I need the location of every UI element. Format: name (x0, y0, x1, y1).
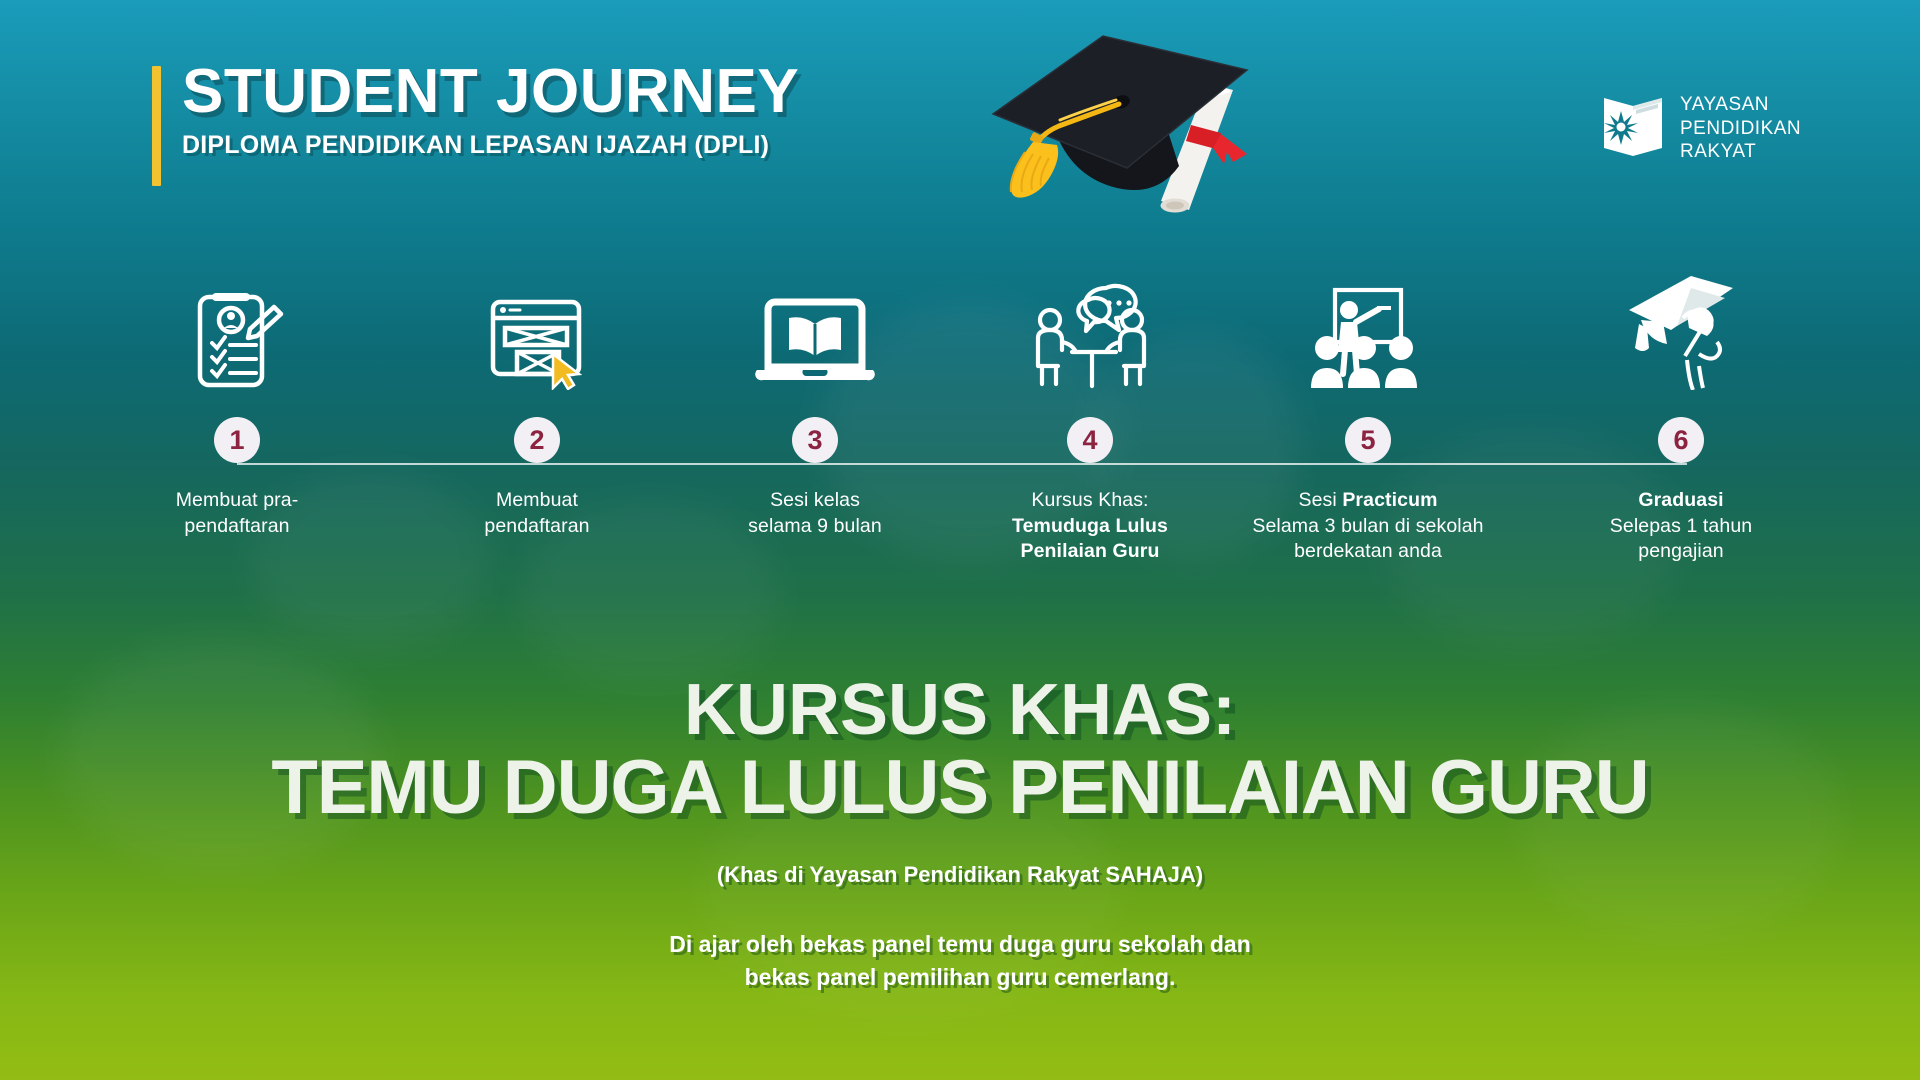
timeline-step-6[interactable]: 6 GraduasiSelepas 1 tahunpengajian (1558, 270, 1804, 565)
logo-line-3: RAKYAT (1680, 140, 1801, 164)
step-number-5: 5 (1345, 417, 1391, 463)
timeline-step-5[interactable]: 5 Sesi PracticumSelama 3 bulan di sekola… (1245, 270, 1491, 565)
step-number-2: 2 (514, 417, 560, 463)
student-journey-timeline: 1 Membuat pra-pendaftaran (0, 270, 1920, 610)
laptop-open-book-icon (692, 270, 938, 390)
step-label-6: GraduasiSelepas 1 tahunpengajian (1558, 488, 1804, 565)
footnote: Di ajar oleh bekas panel temu duga guru … (0, 928, 1920, 995)
step-number-4: 4 (1067, 417, 1113, 463)
step-number-1: 1 (214, 417, 260, 463)
page-title: STUDENT JOURNEY (182, 60, 799, 123)
step-number-3: 3 (792, 417, 838, 463)
logo-line-2: PENDIDIKAN (1680, 117, 1801, 141)
timeline-step-3[interactable]: 3 Sesi kelasselama 9 bulan (692, 270, 938, 539)
teacher-whiteboard-students-icon (1245, 270, 1491, 390)
step-label-5: Sesi PracticumSelama 3 bulan di sekolahb… (1245, 488, 1491, 565)
timeline-step-1[interactable]: 1 Membuat pra-pendaftaran (114, 270, 360, 539)
logo-line-1: YAYASAN (1680, 93, 1801, 117)
graduation-cap-diploma-icon (1558, 270, 1804, 390)
step-number-6: 6 (1658, 417, 1704, 463)
logo-text: YAYASAN PENDIDIKAN RAKYAT (1680, 93, 1801, 164)
online-form-cursor-icon (414, 270, 660, 390)
step-label-4: Kursus Khas:Temuduga LulusPenilaian Guru (967, 488, 1213, 565)
headline-line-2: TEMU DUGA LULUS PENILAIAN GURU (0, 748, 1920, 829)
timeline-step-2[interactable]: 2 Membuatpendaftaran (414, 270, 660, 539)
header: STUDENT JOURNEY DIPLOMA PENDIDIKAN LEPAS… (0, 0, 1920, 215)
exclusivity-note: (Khas di Yayasan Pendidikan Rakyat SAHAJ… (0, 862, 1920, 888)
title-block: STUDENT JOURNEY DIPLOMA PENDIDIKAN LEPAS… (152, 60, 799, 160)
organization-logo: YAYASAN PENDIDIKAN RAKYAT (1600, 92, 1801, 165)
page-subtitle: DIPLOMA PENDIDIKAN LEPASAN IJAZAH (DPLI) (182, 131, 799, 160)
headline-line-1: KURSUS KHAS: (684, 670, 1236, 750)
accent-bar (152, 66, 161, 186)
step-label-3: Sesi kelasselama 9 bulan (692, 488, 938, 539)
interview-two-people-icon (967, 270, 1213, 390)
timeline-step-4[interactable]: 4 Kursus Khas:Temuduga LulusPenilaian Gu… (967, 270, 1213, 565)
step-label-1: Membuat pra-pendaftaran (114, 488, 360, 539)
footnote-line-1: Di ajar oleh bekas panel temu duga guru … (669, 931, 1251, 957)
graduation-cap-photo (975, 28, 1265, 213)
open-book-starburst-icon (1600, 92, 1666, 165)
footnote-line-2: bekas panel pemilihan guru cemerlang. (745, 964, 1176, 990)
clipboard-checklist-pencil-icon (114, 270, 360, 390)
headline: KURSUS KHAS: TEMU DUGA LULUS PENILAIAN G… (0, 672, 1920, 829)
step-label-2: Membuatpendaftaran (414, 488, 660, 539)
